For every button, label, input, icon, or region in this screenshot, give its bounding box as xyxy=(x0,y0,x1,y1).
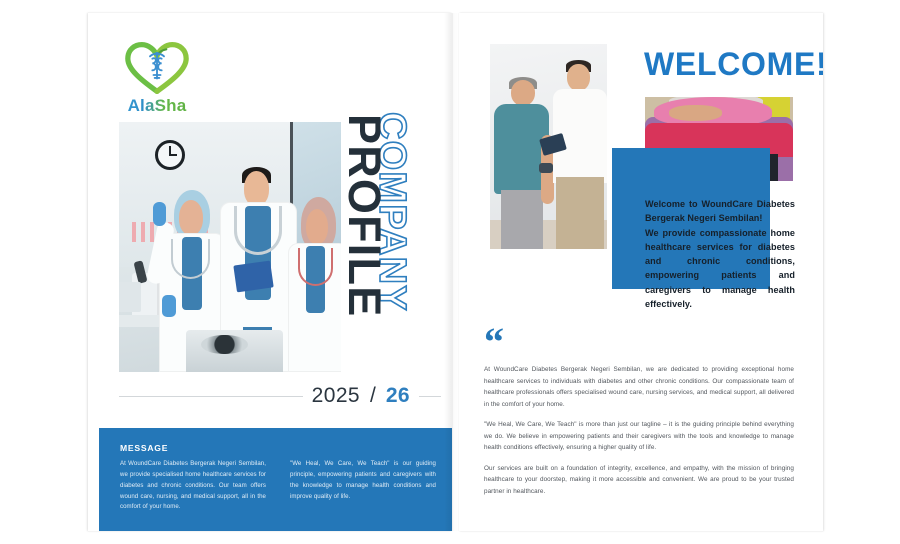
brochure-spread: AlaSha COMPANY PROFILE xyxy=(0,0,900,544)
welcome-paragraph-1: Welcome to WoundCare Diabetes Bergerak N… xyxy=(645,197,795,226)
year-rule-left xyxy=(119,396,303,397)
hero-photo-lab-team xyxy=(119,122,341,372)
about-body-copy: At WoundCare Diabetes Bergerak Negeri Se… xyxy=(484,364,794,497)
quote-mark-icon: “ xyxy=(484,322,504,362)
year-start: 2025 xyxy=(312,384,360,408)
brand-logo: AlaSha xyxy=(112,40,202,118)
left-page: AlaSha COMPANY PROFILE xyxy=(88,13,452,531)
welcome-highlight-text: Welcome to WoundCare Diabetes Bergerak N… xyxy=(645,197,795,311)
about-paragraph-1: At WoundCare Diabetes Bergerak Negeri Se… xyxy=(484,364,794,410)
photo-therapy-session xyxy=(490,44,607,249)
year-row: 2025 / 26 xyxy=(119,381,441,411)
about-paragraph-2: "We Heal, We Care, We Teach" is more tha… xyxy=(484,419,794,454)
year-rule-right xyxy=(419,396,441,397)
about-paragraph-3: Our services are built on a foundation o… xyxy=(484,463,794,498)
message-column-2: "We Heal, We Care, We Teach" is our guid… xyxy=(290,459,436,513)
right-page: WELCOME! Welcome to WoundCare Diabetes B… xyxy=(459,13,823,531)
page-title-vertical: COMPANY PROFILE xyxy=(344,110,452,326)
welcome-paragraph-2: We provide compassionate home healthcare… xyxy=(645,226,795,312)
heart-caduceus-logo-icon xyxy=(121,40,193,96)
message-band: MESSAGE At WoundCare Diabetes Bergerak N… xyxy=(99,428,452,531)
message-columns: At WoundCare Diabetes Bergerak Negeri Se… xyxy=(120,459,436,513)
welcome-heading: WELCOME! xyxy=(644,48,823,80)
message-column-1: At WoundCare Diabetes Bergerak Negeri Se… xyxy=(120,459,266,513)
year-end: 26 xyxy=(386,384,410,408)
title-word-profile: PROFILE xyxy=(342,114,387,317)
year-separator: / xyxy=(370,384,376,408)
message-heading: MESSAGE xyxy=(120,443,436,453)
brand-name: AlaSha xyxy=(112,97,202,114)
